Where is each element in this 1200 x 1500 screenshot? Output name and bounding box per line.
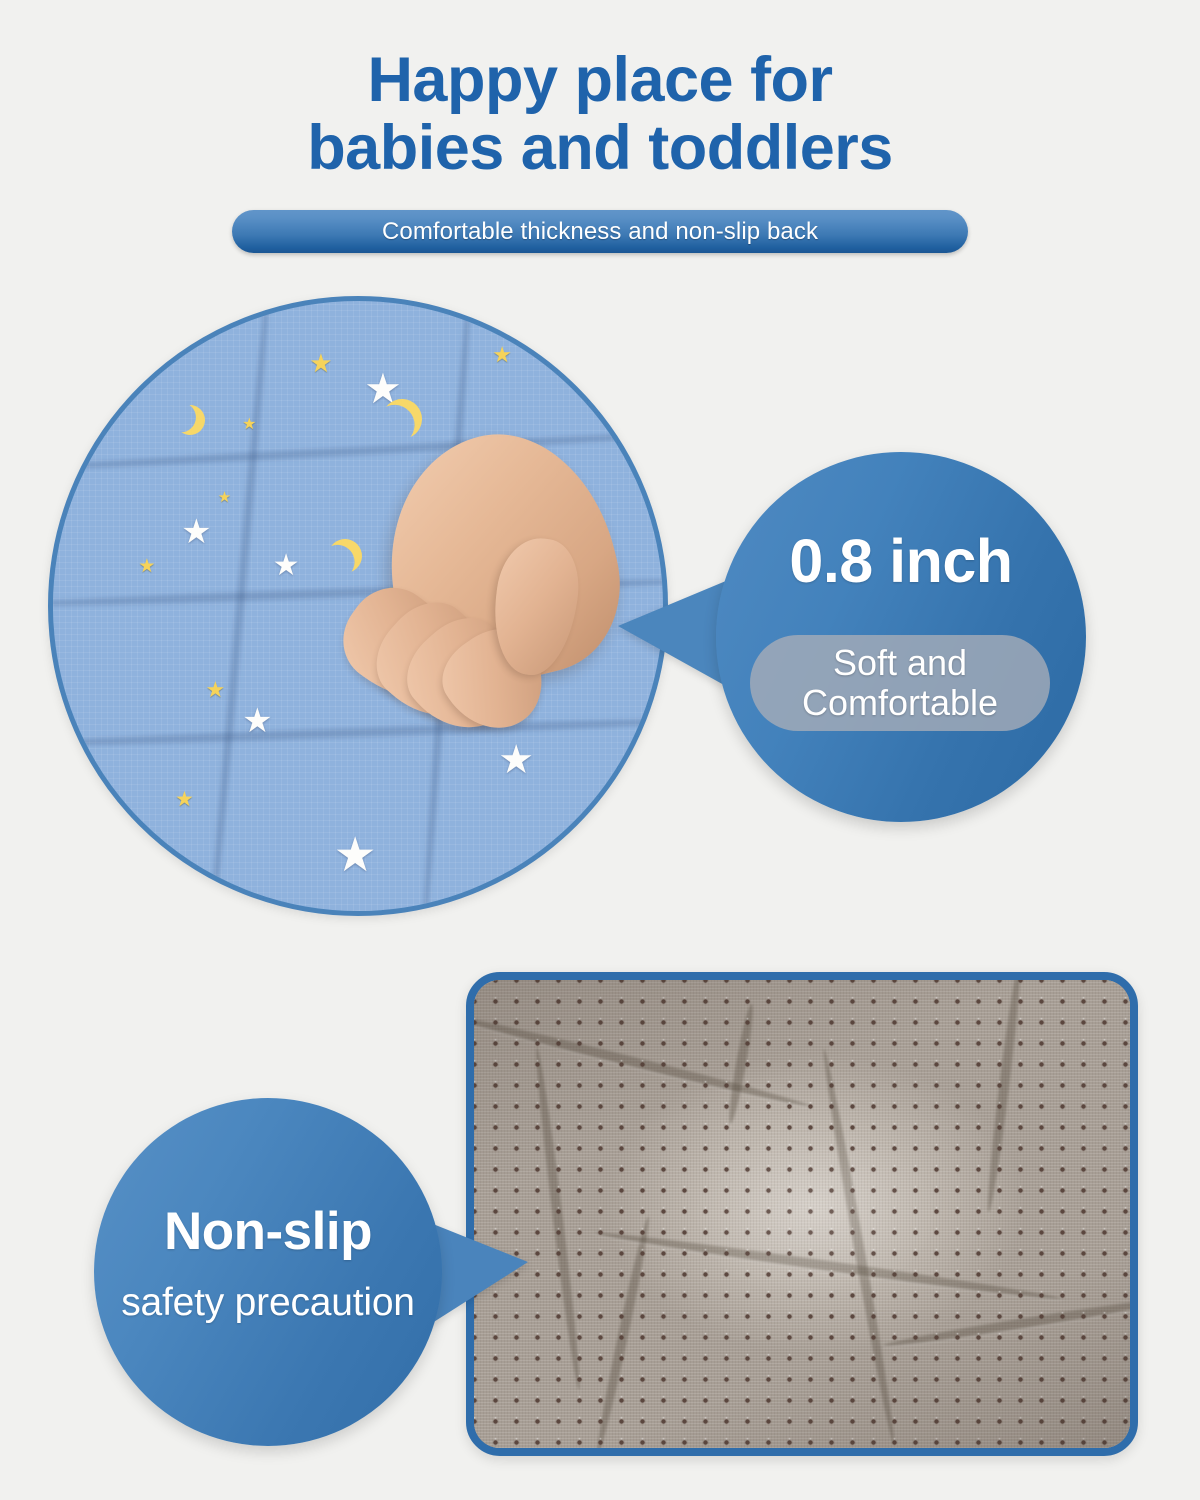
star-icon: ★: [273, 551, 300, 581]
page-title: Happy place for babies and toddlers: [0, 46, 1200, 182]
photo-shading-overlay: [474, 980, 1130, 1448]
star-icon: ★: [309, 350, 332, 376]
star-icon: ★: [218, 490, 231, 505]
star-icon: ★: [242, 417, 256, 433]
thickness-callout: 0.8 inch Soft and Comfortable: [716, 452, 1086, 822]
thickness-photo-frame: ★ ★ ★ ★ ★ ★ ★ ★ ★ ★ ★ ★ ★ ★ ★: [48, 296, 668, 916]
nonslip-photo: [466, 972, 1138, 1456]
callout-circle: [94, 1098, 442, 1446]
nonslip-subtitle: safety precaution: [94, 1281, 442, 1325]
star-icon: ★: [206, 679, 226, 701]
star-icon: ★: [492, 344, 512, 366]
nonslip-title: Non-slip: [94, 1201, 442, 1262]
hand-pressing-icon: [340, 435, 608, 777]
star-icon: ★: [138, 557, 155, 576]
nonslip-callout: Non-slip safety precaution: [94, 1098, 442, 1446]
star-icon: ★: [334, 832, 377, 880]
thickness-pill: Soft and Comfortable: [750, 635, 1050, 731]
star-icon: ★: [175, 789, 194, 810]
star-icon: ★: [181, 515, 211, 549]
thickness-value: 0.8 inch: [716, 526, 1086, 596]
subtitle-text: Comfortable thickness and non-slip back: [382, 218, 818, 246]
header-section: Happy place for babies and toddlers Comf…: [0, 0, 1200, 270]
thickness-photo: ★ ★ ★ ★ ★ ★ ★ ★ ★ ★ ★ ★ ★ ★ ★: [48, 296, 668, 916]
thickness-pill-text: Soft and Comfortable: [802, 643, 998, 724]
star-icon: ★: [242, 704, 272, 738]
subtitle-banner: Comfortable thickness and non-slip back: [232, 210, 968, 253]
